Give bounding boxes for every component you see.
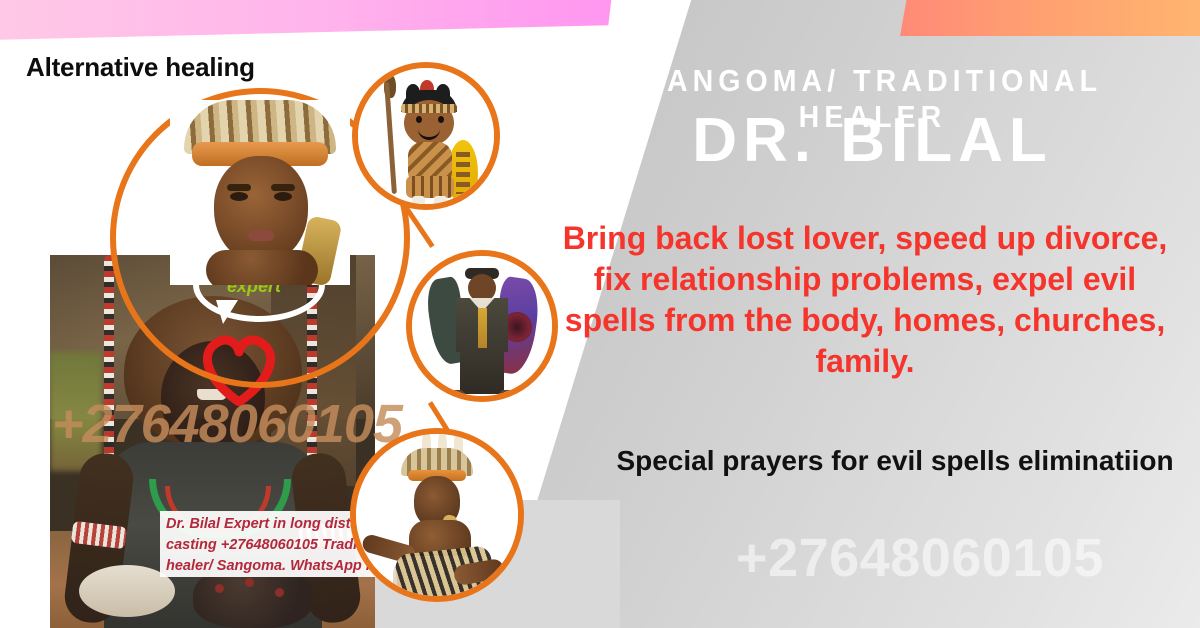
- illustrated-sangoma-portrait: [170, 100, 350, 285]
- healer-name: DR. BILAL: [565, 108, 1180, 173]
- caption-line-3: healer/ Sangoma. WhatsApp me: [166, 556, 384, 577]
- phone-number-watermark: +27648060105: [640, 527, 1200, 589]
- warrior-headband: [401, 104, 457, 113]
- necktie: [478, 308, 487, 348]
- services-text: Bring back lost lover, speed up divorce,…: [545, 218, 1185, 382]
- orange-top-banner: [900, 0, 1200, 36]
- caption-line-2: casting +27648060105 Traditio: [166, 535, 384, 556]
- traditional-healer-in-cape: [412, 256, 552, 396]
- photo-phone-watermark: +27648060105: [52, 393, 402, 455]
- page-title: Alternative healing: [26, 52, 255, 83]
- kneeling-sangoma-dancer: [356, 434, 518, 596]
- trousers: [460, 348, 504, 394]
- cartoon-zulu-warrior: [358, 68, 494, 204]
- warrior-skirt: [406, 176, 454, 198]
- spear-icon: [384, 82, 397, 194]
- poster-canvas: Alternative healing Ask the ex: [0, 0, 1200, 628]
- offer-text: Special prayers for evil spells eliminat…: [600, 443, 1190, 480]
